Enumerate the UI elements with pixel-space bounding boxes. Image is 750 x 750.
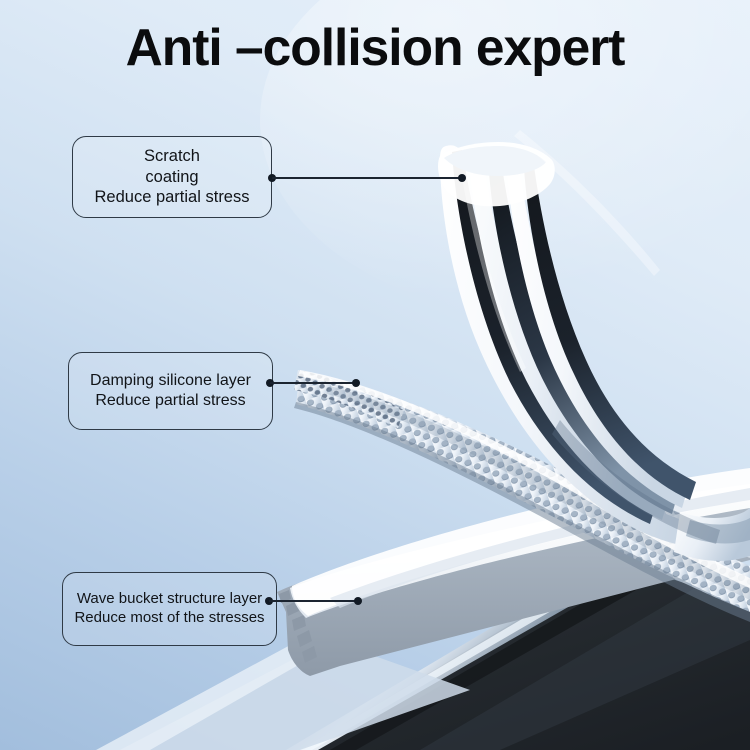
callout-wave-bucket-structure-layer: Wave bucket structure layer Reduce most … (62, 572, 277, 646)
page-title: Anti –collision expert (4, 18, 747, 78)
scratch-coating-film (438, 142, 750, 561)
product-feature-graphic: Anti –collision expert Scratch coating R… (0, 0, 750, 750)
callout-scratch-coating-line2: coating (95, 167, 250, 187)
callout-damping-silicone-layer-line2: Reduce partial stress (90, 391, 251, 411)
callout-damping-silicone-layer-line1: Damping silicone layer (90, 371, 251, 391)
callout-wave-bucket-structure-layer-line1: Wave bucket structure layer (74, 590, 264, 609)
connector-line-damping-silicone-layer (270, 382, 356, 384)
callout-wave-bucket-structure-layer-line2: Reduce most of the stresses (74, 609, 264, 628)
connector-dot-wave-bucket-end (354, 597, 362, 605)
connector-dot-damping-silicone-layer-end (352, 379, 360, 387)
phone-body (286, 556, 750, 750)
callout-scratch-coating: Scratch coating Reduce partial stress (72, 136, 272, 218)
callout-scratch-coating-line3: Reduce partial stress (95, 187, 250, 207)
connector-line-scratch-coating (272, 177, 462, 179)
callout-scratch-coating-line1: Scratch (95, 146, 250, 166)
connector-line-wave-bucket (269, 600, 358, 602)
wave-bucket-slab (277, 468, 750, 676)
connector-dot-scratch-coating-end (458, 174, 466, 182)
callout-damping-silicone-layer: Damping silicone layer Reduce partial st… (68, 352, 273, 430)
damping-silicone-mesh (294, 370, 750, 622)
